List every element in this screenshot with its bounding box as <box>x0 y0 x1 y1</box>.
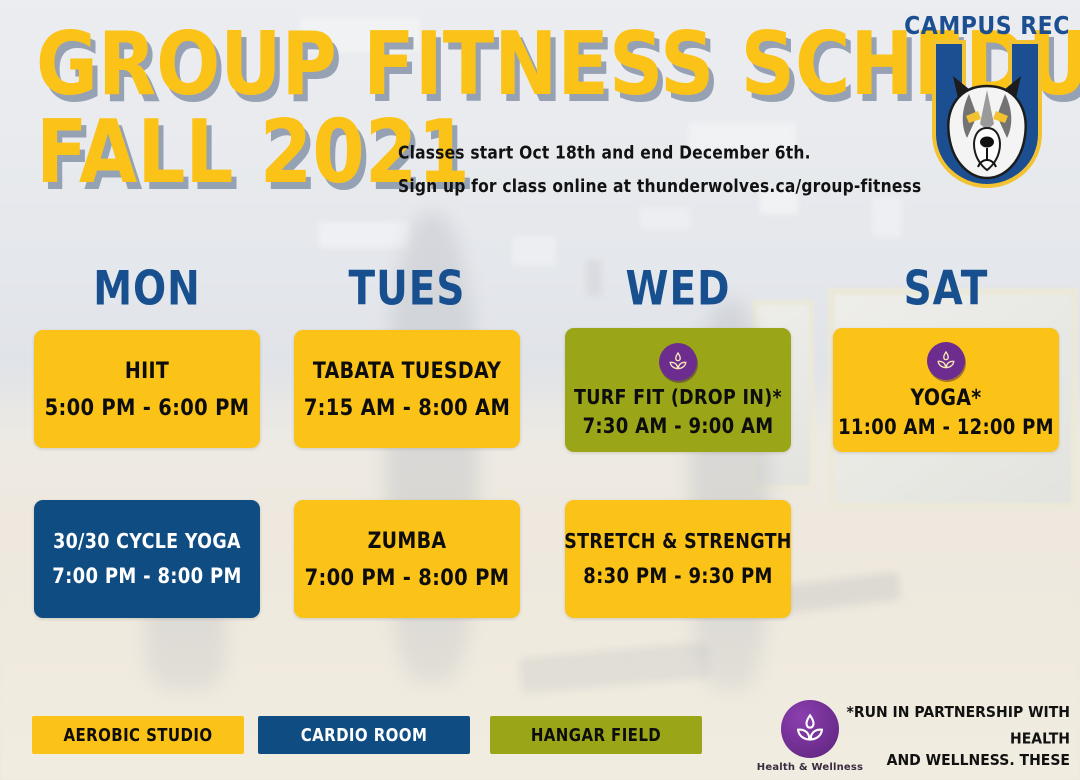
legend-label: CARDIO ROOM <box>301 725 428 746</box>
class-card-hiit[interactable]: HIIT 5:00 PM - 6:00 PM <box>34 330 260 448</box>
class-time: 8:30 PM - 9:30 PM <box>583 564 772 588</box>
health-wellness-circle <box>781 700 839 758</box>
class-time: 11:00 AM - 12:00 PM <box>838 415 1054 439</box>
class-time: 5:00 PM - 6:00 PM <box>45 394 250 421</box>
legend-chip-aerobic-studio[interactable]: AEROBIC STUDIO <box>32 716 244 754</box>
day-header-row: MON TUES WED SAT <box>0 262 1080 310</box>
schedule-subtitle: Classes start Oct 18th and end December … <box>398 136 921 203</box>
day-header-wed: WED <box>565 262 791 317</box>
class-name: YOGA* <box>911 385 982 411</box>
class-name: TABATA TUESDAY <box>313 358 501 384</box>
class-name: HIIT <box>125 358 169 384</box>
class-time: 7:30 AM - 9:00 AM <box>583 414 774 438</box>
subtitle-line-2: Sign up for class online at thunderwolve… <box>398 170 921 204</box>
logo-wordmark: CAMPUS REC <box>904 12 1070 41</box>
class-card-yoga[interactable]: YOGA* 11:00 AM - 12:00 PM <box>833 328 1059 452</box>
class-card-stretch-strength[interactable]: STRETCH & STRENGTH 8:30 PM - 9:30 PM <box>565 500 791 618</box>
day-header-mon: MON <box>34 262 260 317</box>
subtitle-line-1: Classes start Oct 18th and end December … <box>398 136 921 170</box>
partnership-footnote: *Run in partnership with Health and Well… <box>835 702 1070 780</box>
poster-canvas: GROUP FITNESS SCHEDULE FALL 2021 Classes… <box>0 0 1080 780</box>
legend-label: AEROBIC STUDIO <box>63 725 212 746</box>
class-name: TURF FIT (DROP IN)* <box>574 386 782 409</box>
footnote-line-2: and Wellness. These classes are <box>835 748 1070 780</box>
legend-chip-cardio-room[interactable]: CARDIO ROOM <box>258 716 470 754</box>
footnote-line-1: *Run in partnership with Health <box>835 700 1070 753</box>
class-time: 7:00 PM - 8:00 PM <box>52 564 241 588</box>
health-wellness-badge-icon <box>927 342 965 380</box>
legend-label: HANGAR FIELD <box>531 725 661 746</box>
class-time: 7:00 PM - 8:00 PM <box>305 564 510 591</box>
day-header-sat: SAT <box>833 262 1059 317</box>
class-card-turf-fit[interactable]: TURF FIT (DROP IN)* 7:30 AM - 9:00 AM <box>565 328 791 452</box>
poster-header: GROUP FITNESS SCHEDULE FALL 2021 Classes… <box>0 0 1080 200</box>
health-wellness-badge-icon <box>659 343 697 381</box>
class-card-3030-cycle-yoga[interactable]: 30/30 CYCLE YOGA 7:00 PM - 8:00 PM <box>34 500 260 618</box>
leaf-drop-icon <box>666 350 690 374</box>
class-name: 30/30 CYCLE YOGA <box>53 530 241 553</box>
leaf-drop-icon <box>934 349 958 373</box>
class-card-tabata-tuesday[interactable]: TABATA TUESDAY 7:15 AM - 8:00 AM <box>294 330 520 448</box>
leaf-drop-icon <box>793 712 827 746</box>
campus-rec-logo: CAMPUS REC <box>912 8 1062 193</box>
class-time: 7:15 AM - 8:00 AM <box>304 394 510 421</box>
class-card-zumba[interactable]: ZUMBA 7:00 PM - 8:00 PM <box>294 500 520 618</box>
legend-chip-hangar-field[interactable]: HANGAR FIELD <box>490 716 702 754</box>
class-name: STRETCH & STRENGTH <box>564 530 792 553</box>
day-header-tues: TUES <box>294 262 520 317</box>
class-name: ZUMBA <box>368 528 447 554</box>
